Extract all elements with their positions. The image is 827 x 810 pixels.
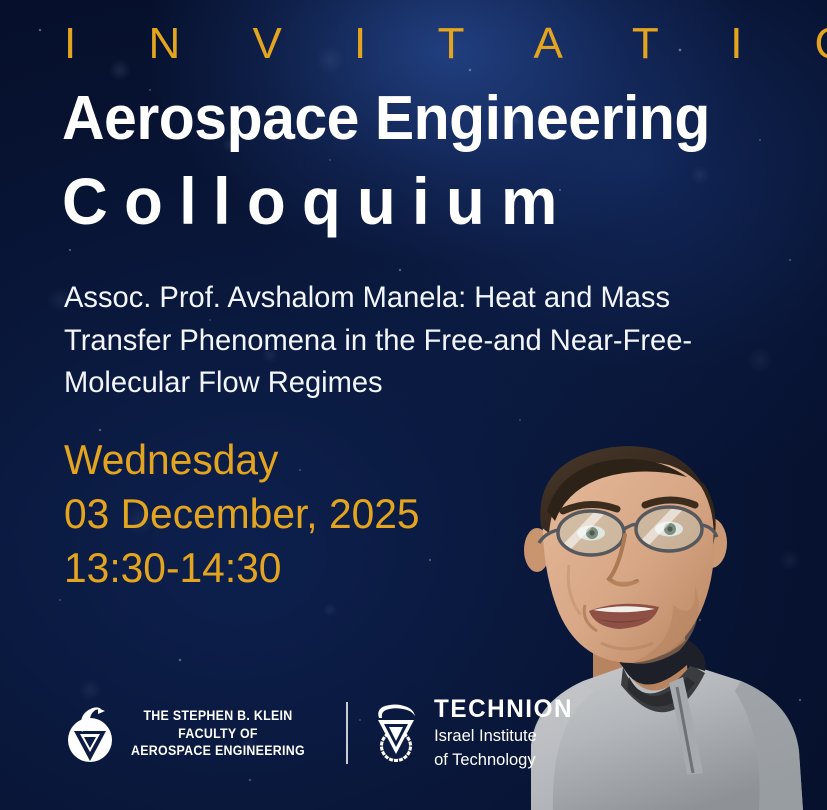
technion-emblem-icon [370, 702, 422, 764]
faculty-logo-text: THE STEPHEN B. KLEIN FACULTY OF AEROSPAC… [131, 707, 305, 759]
faculty-line3: AEROSPACE ENGINEERING [131, 742, 305, 759]
aerospace-faculty-emblem-icon [60, 702, 120, 764]
invitation-kicker: I N V I T A T I O N [64, 22, 827, 66]
faculty-line2: FACULTY OF [131, 725, 305, 742]
invitation-poster: I N V I T A T I O N Aerospace Engineerin… [0, 0, 827, 810]
poster-title-line2: Colloquium [62, 168, 574, 234]
technion-wordmark: TECHNION [434, 697, 573, 722]
talk-title: Assoc. Prof. Avshalom Manela: Heat and M… [64, 277, 753, 405]
event-datetime: Wednesday 03 December, 2025 13:30-14:30 [64, 433, 420, 594]
faculty-logo: THE STEPHEN B. KLEIN FACULTY OF AEROSPAC… [60, 702, 320, 764]
poster-title-line1: Aerospace Engineering [62, 88, 710, 150]
technion-logo: TECHNION Israel Institute of Technology [370, 697, 577, 770]
event-time: 13:30-14:30 [64, 541, 420, 595]
logo-bar: THE STEPHEN B. KLEIN FACULTY OF AEROSPAC… [60, 697, 577, 770]
logo-divider [346, 702, 348, 764]
event-date: 03 December, 2025 [64, 487, 420, 541]
event-day: Wednesday [64, 433, 420, 487]
technion-sub-line2: of Technology [434, 750, 577, 770]
faculty-line1: THE STEPHEN B. KLEIN [131, 707, 305, 724]
technion-logo-text: TECHNION Israel Institute of Technology [434, 697, 577, 770]
technion-sub-line1: Israel Institute [434, 726, 577, 746]
